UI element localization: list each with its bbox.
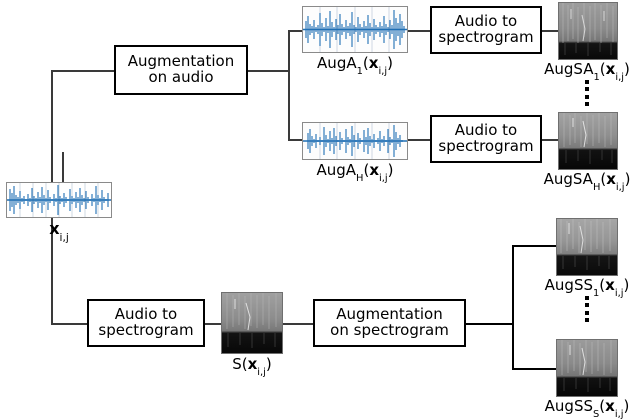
- augsa1-prefix: AugSA: [544, 60, 593, 78]
- connector-augspec-out: [466, 323, 514, 325]
- augss1-arg: x: [605, 276, 615, 294]
- box-audio-to-spectrogram-bottom-line2: spectrogram: [98, 323, 193, 339]
- augah-index: H: [356, 173, 363, 184]
- augsah-spectrogram-thumbnail: [558, 112, 618, 170]
- connector-a2s-to-augsa1: [540, 30, 558, 32]
- augss-last-caption: AugSSS(xi,j): [534, 399, 640, 414]
- input-caption: xi,j: [6, 221, 112, 237]
- spectrogram-icon: [557, 219, 617, 275]
- input-caption-main: x: [49, 219, 59, 238]
- augsah-arg: x: [606, 170, 616, 188]
- augsa1-arg: x: [606, 60, 616, 78]
- box-audio-to-spectrogram-mid[interactable]: Audio to spectrogram: [430, 115, 542, 163]
- box-audio-to-spectrogram-top[interactable]: Audio to spectrogram: [430, 6, 542, 54]
- augsah-arg-sub: i,j: [616, 182, 625, 193]
- connector-to-augmentation-audio: [51, 70, 114, 72]
- dot: [585, 303, 589, 307]
- spectrogram-icon: [557, 340, 617, 396]
- input-spectrogram-caption: S(xi,j): [221, 357, 283, 372]
- connector-branch-to-augah: [288, 139, 302, 141]
- spectrogram-icon: [222, 293, 282, 353]
- box-augmentation-on-audio-line2: on audio: [148, 70, 213, 86]
- dot: [585, 80, 589, 84]
- augssS-arg-sub: i,j: [615, 409, 624, 420]
- augss1-index: 1: [593, 288, 599, 299]
- augsah-caption: AugSAH(xi,j): [534, 172, 640, 187]
- augssS-arg: x: [605, 397, 615, 415]
- connector-branch-to-augss1: [512, 245, 556, 247]
- connector-augah-to-a2s: [408, 139, 430, 141]
- augah-close: ): [388, 161, 394, 179]
- dot: [585, 95, 589, 99]
- augsa1-spectrogram-thumbnail: [558, 2, 618, 60]
- box-augmentation-on-spectrogram-line2: on spectrogram: [330, 323, 449, 339]
- box-augmentation-on-audio[interactable]: Augmentation on audio: [114, 45, 248, 95]
- auga1-arg-sub: i,j: [378, 66, 387, 77]
- auga1-close: ): [387, 54, 393, 72]
- spec-arg-sub: i,j: [257, 367, 266, 378]
- augss1-caption: AugSS1(xi,j): [534, 278, 640, 293]
- connector-branch-to-auga1: [288, 30, 302, 32]
- spec-arg: x: [248, 355, 258, 373]
- augsah-close: ): [625, 170, 631, 188]
- augsa1-caption: AugSA1(xi,j): [534, 62, 640, 77]
- auga1-arg: x: [369, 54, 379, 72]
- dot: [585, 87, 589, 91]
- augsah-prefix: AugSA: [544, 170, 593, 188]
- waveform-icon: [303, 7, 407, 52]
- augsah-index: H: [593, 182, 600, 193]
- waveform-icon: [7, 183, 111, 217]
- box-audio-to-spectrogram-mid-line2: spectrogram: [438, 139, 533, 155]
- connector-to-audio-to-spectrogram-bottom: [51, 323, 87, 325]
- input-waveform-thumbnail: [6, 182, 112, 218]
- dot: [585, 102, 589, 106]
- augsa1-arg-sub: i,j: [615, 72, 624, 83]
- augss1-spectrogram-thumbnail: [556, 218, 618, 276]
- connector-spec-to-augspec: [283, 323, 313, 325]
- augss-last-spectrogram-thumbnail: [556, 339, 618, 397]
- connector-audio-branch-trunk: [288, 30, 290, 140]
- auga1-caption: AugA1(xi,j): [302, 56, 408, 71]
- augssS-prefix: AugSS: [545, 397, 593, 415]
- connector-a2s-to-spec: [205, 323, 221, 325]
- augss1-prefix: AugSS: [545, 276, 593, 294]
- augsa1-close: ): [624, 60, 630, 78]
- auga1-waveform-thumbnail: [302, 6, 408, 53]
- augah-arg-sub: i,j: [379, 173, 388, 184]
- augah-arg: x: [369, 161, 379, 179]
- ellipsis-augss: [584, 296, 590, 322]
- auga1-index: 1: [357, 66, 363, 77]
- input-caption-sub: i,j: [60, 232, 69, 244]
- connector-auga1-to-a2s: [408, 30, 430, 32]
- input-spectrogram-thumbnail: [221, 292, 283, 354]
- connector-augaudio-out: [248, 70, 290, 72]
- dot: [585, 296, 589, 300]
- augah-waveform-thumbnail: [302, 122, 408, 160]
- box-audio-to-spectrogram-top-line2: spectrogram: [438, 30, 533, 46]
- diagram-canvas: xi,j Augmentation on audio: [0, 0, 640, 409]
- augssS-index: S: [593, 409, 599, 420]
- connector-spec-branch-trunk: [512, 245, 514, 370]
- augssS-close: ): [623, 397, 629, 415]
- augss1-arg-sub: i,j: [615, 288, 624, 299]
- box-audio-to-spectrogram-bottom[interactable]: Audio to spectrogram: [87, 299, 205, 347]
- ellipsis-augsa: [584, 80, 590, 106]
- augss1-close: ): [623, 276, 629, 294]
- connector-branch-to-augssS: [512, 368, 556, 370]
- augah-caption: AugAH(xi,j): [302, 163, 408, 178]
- spectrogram-icon: [559, 113, 617, 169]
- dot: [585, 311, 589, 315]
- augah-prefix: AugA: [316, 161, 356, 179]
- connector-a2s-to-augsah: [540, 139, 558, 141]
- spec-close: ): [266, 355, 272, 373]
- spec-prefix: S: [232, 355, 242, 373]
- spectrogram-icon: [559, 3, 617, 59]
- auga1-prefix: AugA: [317, 54, 357, 72]
- dot: [585, 318, 589, 322]
- waveform-icon: [303, 123, 407, 159]
- box-augmentation-on-spectrogram[interactable]: Augmentation on spectrogram: [313, 299, 466, 347]
- augsa1-index: 1: [594, 72, 600, 83]
- connector-input-stem: [62, 152, 64, 182]
